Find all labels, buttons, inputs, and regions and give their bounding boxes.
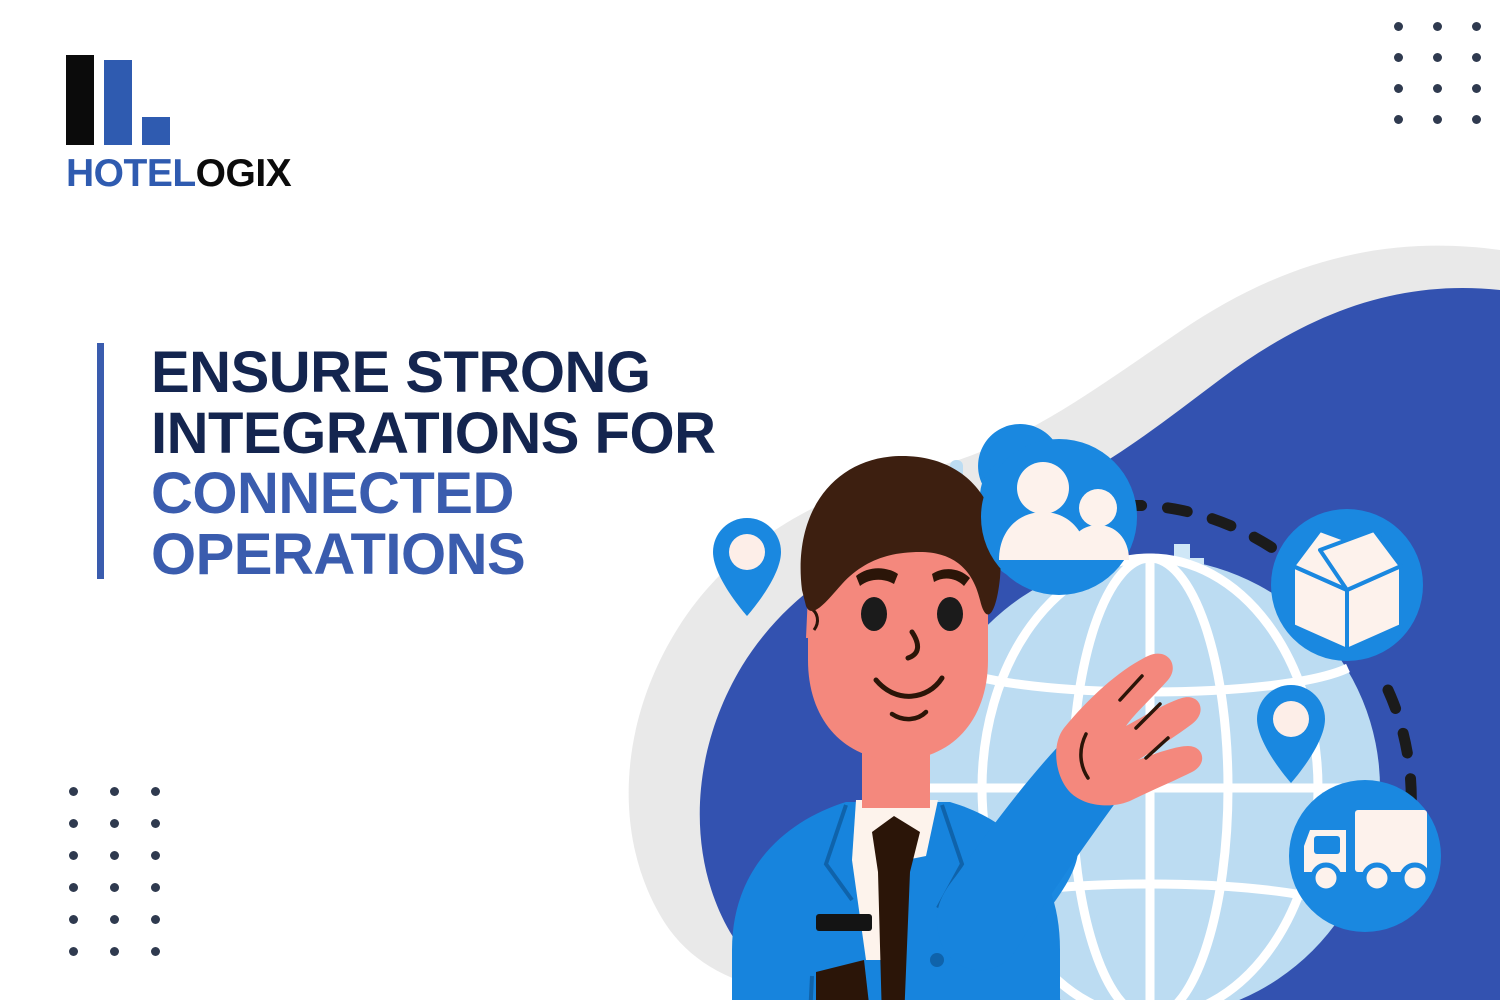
character-name-badge	[816, 914, 872, 931]
package-box-icon	[1293, 530, 1401, 650]
dot	[110, 947, 119, 956]
dot	[110, 883, 119, 892]
dot	[69, 851, 78, 860]
dot	[1433, 84, 1442, 93]
dot	[1433, 22, 1442, 31]
dot	[151, 787, 160, 796]
dot	[69, 947, 78, 956]
dot	[1472, 115, 1481, 124]
logo-bar-blue-icon	[104, 60, 132, 145]
dot	[1472, 53, 1481, 62]
logo-bars	[66, 55, 196, 145]
people-icon-badge[interactable]	[981, 439, 1137, 595]
dot-grid-top-right	[1394, 22, 1481, 124]
dot	[110, 851, 119, 860]
dot	[1472, 84, 1481, 93]
dot	[151, 883, 160, 892]
dot	[1433, 53, 1442, 62]
character-eye-right	[937, 597, 963, 631]
package-box-icon-badge[interactable]	[1271, 509, 1423, 661]
logo-wordmark-first: HOTEL	[66, 152, 196, 195]
dot	[1394, 115, 1403, 124]
character-button	[930, 953, 944, 967]
dot	[69, 915, 78, 924]
map-pin	[713, 518, 781, 616]
dot	[69, 819, 78, 828]
dot	[110, 915, 119, 924]
dot	[151, 947, 160, 956]
logo-wordmark-second: OGIX	[196, 152, 292, 195]
delivery-truck-icon-badge[interactable]	[1289, 780, 1441, 932]
map-pin-dot	[729, 534, 765, 570]
dot	[151, 915, 160, 924]
logo-wordmark: HOTELOGIX	[66, 154, 366, 193]
dot	[1433, 115, 1442, 124]
dot	[1472, 22, 1481, 31]
dot	[1394, 84, 1403, 93]
dot	[151, 851, 160, 860]
promo-banner: HOTELOGIX ENSURE STRONG INTEGRATIONS FOR…	[0, 0, 1500, 1000]
logo-bar-black-icon	[66, 55, 94, 145]
headline-accent-bar	[97, 343, 104, 579]
dot	[110, 787, 119, 796]
dot	[69, 883, 78, 892]
dot	[1394, 53, 1403, 62]
character-eye-left	[861, 597, 887, 631]
logo-square-blue-icon	[142, 117, 170, 145]
brand-logo[interactable]: HOTELOGIX	[66, 55, 366, 205]
dot	[110, 819, 119, 828]
map-pin-dot	[1273, 701, 1309, 737]
hero-illustration	[620, 260, 1500, 1000]
truck-wheels	[1313, 865, 1428, 891]
dot-grid-bottom-left	[69, 787, 160, 956]
dot	[69, 787, 78, 796]
dot	[1394, 22, 1403, 31]
dot	[151, 819, 160, 828]
